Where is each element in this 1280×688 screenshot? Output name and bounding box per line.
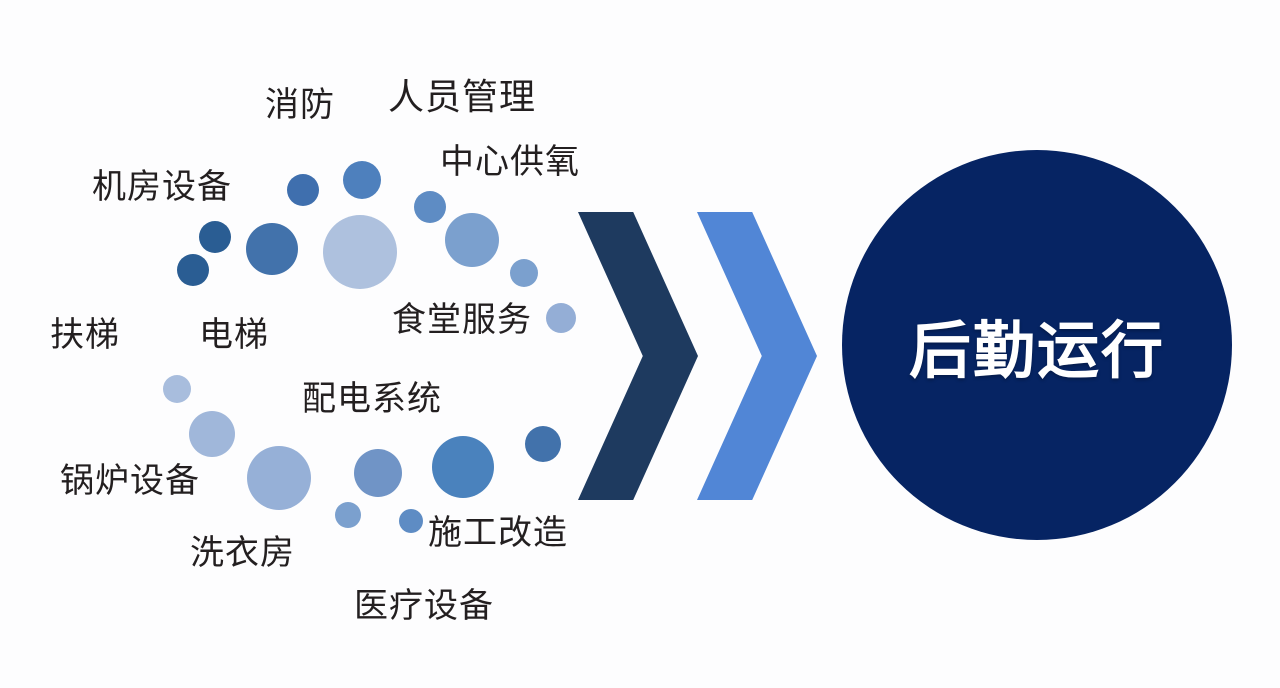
bubble-dot (432, 436, 494, 498)
bubble-dot (163, 375, 191, 403)
bubble-dot (189, 411, 235, 457)
bubble-dot (335, 502, 361, 528)
bubble-dot (354, 449, 402, 497)
bubble-dot (510, 259, 538, 287)
service-label: 锅炉设备 (60, 464, 200, 498)
service-label: 食堂服务 (392, 303, 532, 337)
bubble-dot (287, 174, 319, 206)
service-label: 人员管理 (388, 79, 536, 115)
bubble-dot (247, 446, 311, 510)
service-label: 机房设备 (92, 170, 232, 204)
service-label: 医疗设备 (354, 589, 494, 623)
service-label: 电梯 (199, 318, 269, 352)
hub-label: 后勤运行 (909, 300, 1165, 390)
hub-circle: 后勤运行 (842, 150, 1232, 540)
bubble-dot (399, 509, 423, 533)
bubble-dot (414, 191, 446, 223)
bubble-dot (445, 213, 499, 267)
bubble-dot (199, 221, 231, 253)
bubble-dot (323, 215, 397, 289)
chevron-dark (578, 212, 698, 500)
service-label: 中心供氧 (440, 145, 580, 179)
bubble-dot (525, 426, 561, 462)
service-label: 施工改造 (428, 516, 568, 550)
bubble-dot (177, 254, 209, 286)
service-label: 洗衣房 (190, 536, 295, 570)
bubble-dot (546, 303, 576, 333)
service-label: 扶梯 (50, 318, 120, 352)
diagram-canvas: 消防人员管理中心供氧机房设备扶梯电梯食堂服务配电系统锅炉设备洗衣房施工改造医疗设… (0, 0, 1280, 688)
bubble-dot (246, 223, 298, 275)
service-label: 配电系统 (302, 382, 442, 416)
bubble-dot (343, 161, 381, 199)
service-label: 消防 (265, 88, 335, 122)
chevron-light (697, 212, 817, 500)
